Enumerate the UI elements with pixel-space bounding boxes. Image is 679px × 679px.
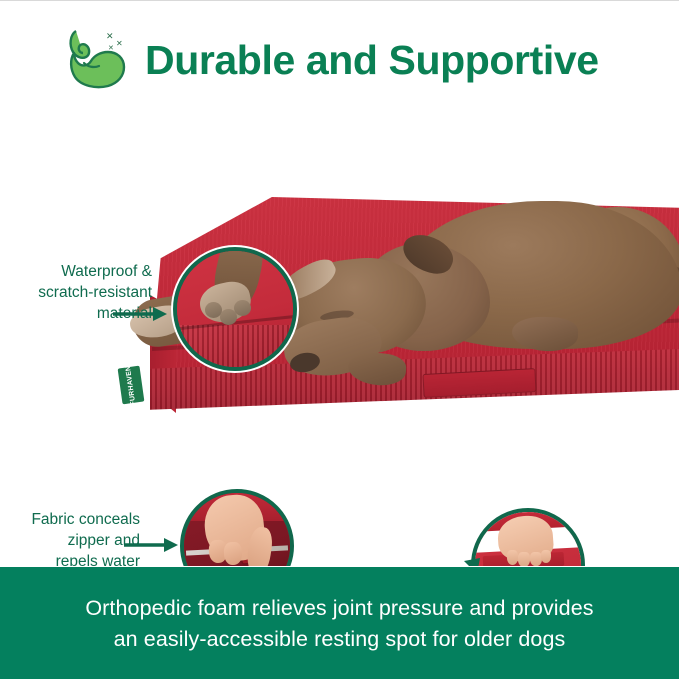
arrow-up-right-icon <box>440 553 486 566</box>
paw-toe <box>234 300 251 316</box>
finger <box>518 552 530 566</box>
svg-text:✕: ✕ <box>106 32 114 42</box>
bottom-banner: Orthopedic foam relieves joint pressure … <box>0 567 679 679</box>
arrow-right-icon <box>124 536 180 554</box>
infographic-page: ✕ ✕ ✕ Durable and Supportive FURHAVEN <box>0 0 679 679</box>
flexed-bicep-icon: ✕ ✕ ✕ <box>66 23 136 91</box>
svg-text:✕: ✕ <box>108 44 114 52</box>
page-title: Durable and Supportive <box>145 33 599 87</box>
callout-circle-paw-on-fabric <box>173 247 297 371</box>
header: ✕ ✕ ✕ Durable and Supportive <box>0 1 679 111</box>
finger <box>541 550 552 563</box>
dog-photo <box>250 201 679 376</box>
callout-label-handle: Easily portable with built-in handle <box>316 565 444 566</box>
brand-tag: FURHAVEN <box>118 366 145 405</box>
banner-text: Orthopedic foam relieves joint pressure … <box>85 593 593 655</box>
callout-circle-handle <box>471 508 585 566</box>
product-photo-stage: FURHAVEN <box>0 109 679 566</box>
svg-text:✕: ✕ <box>116 39 123 48</box>
callout-circle-zipper <box>180 489 294 566</box>
callout-label-zipper: Fabric conceals zipper and repels water <box>6 509 140 566</box>
fabric-ribbing <box>177 325 293 367</box>
brand-tag-label: FURHAVEN <box>125 365 137 406</box>
arrow-right-icon <box>113 305 169 323</box>
